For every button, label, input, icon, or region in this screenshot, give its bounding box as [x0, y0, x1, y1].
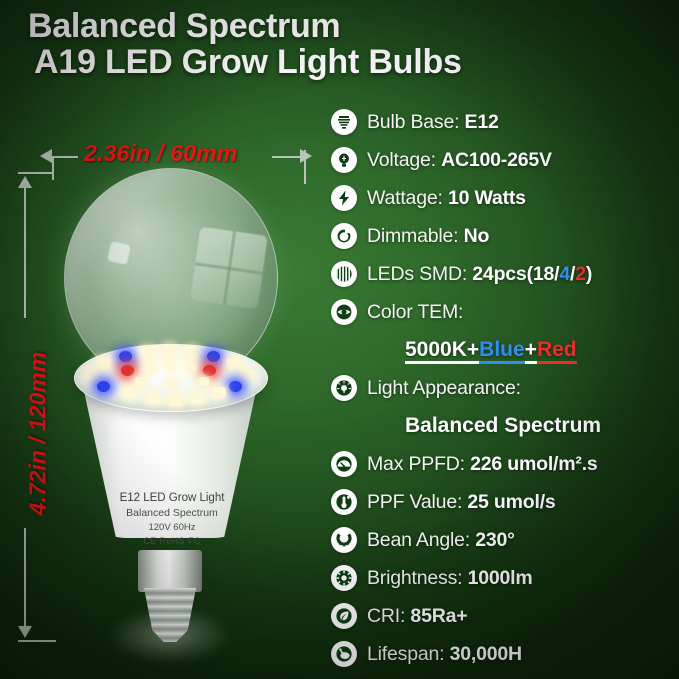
spec-row-voltage: Voltage: AC100-265V: [331, 141, 679, 179]
led-white: [163, 345, 176, 356]
spec-text-max-ppfd: Max PPFD: 226 umol/m².s: [367, 453, 598, 476]
spec-value-dimmable: No: [464, 225, 490, 247]
led-white: [199, 377, 209, 386]
dim-v-top-tick: [18, 172, 52, 174]
leds-suffix: ): [586, 263, 592, 285]
bulb-printed-label: E12 LED Grow Light Balanced Spectrum 120…: [92, 490, 252, 547]
led-white: [165, 361, 175, 370]
dim-v-down-arrow-icon: [18, 626, 32, 638]
spec-label-voltage: Voltage:: [367, 149, 436, 171]
spec-value-cri: 85Ra+: [410, 605, 467, 627]
led-blue: [119, 351, 132, 362]
spec-text-dimmable: Dimmable: No: [367, 225, 489, 248]
led-red: [121, 365, 134, 376]
spec-value-ppf-value: 25 umol/s: [467, 491, 555, 513]
led-array-plate: [74, 344, 268, 412]
light-appearance-value-row: Balanced Spectrum: [331, 407, 679, 445]
spec-label-bean-angle: Bean Angle:: [367, 529, 470, 551]
led-blue: [229, 381, 242, 392]
dimmable-circle-icon: [331, 223, 357, 249]
led-white: [167, 379, 177, 388]
dim-v-bottom-tick: [18, 640, 56, 642]
dim-h-right-tick: [304, 150, 306, 184]
color-tem-kelvin: 5000K: [405, 338, 467, 364]
spec-text-lifespan: Lifespan: 30,000H: [367, 643, 522, 666]
voltage-bulb-icon: [331, 147, 357, 173]
led-white: [135, 377, 145, 386]
spec-label-brightness: Brightness:: [367, 567, 462, 589]
spec-label-light-appearance: Light Appearance:: [367, 377, 521, 399]
led-white: [169, 395, 182, 406]
spec-label-wattage: Wattage:: [367, 187, 443, 209]
spec-value-voltage: AC100-265V: [441, 149, 552, 171]
spec-value-leds-smd: 24pcs(18/4/2): [472, 263, 592, 285]
spec-text-ppf-value: PPF Value: 25 umol/s: [367, 491, 556, 514]
spec-label-bulb-base: Bulb Base:: [367, 111, 459, 133]
led-white: [241, 370, 254, 381]
bulb-illustration: E12 LED Grow Light Balanced Spectrum 120…: [52, 168, 292, 638]
spec-text-bean-angle: Bean Angle: 230°: [367, 529, 515, 552]
led-white: [185, 347, 198, 358]
dim-v-lower-line: [24, 528, 26, 628]
color-tem-red: Red: [537, 338, 577, 364]
bulb-label-line-1: E12 LED Grow Light: [92, 490, 252, 506]
bulb-label-line-4: CE RoHS FC: [92, 535, 252, 548]
spec-text-leds-smd: LEDs SMD: 24pcs(18/4/2): [367, 263, 592, 286]
led-white: [227, 358, 240, 369]
spec-text-light-appearance: Light Appearance:: [367, 377, 521, 400]
dim-h-left-line: [52, 156, 78, 158]
spec-value-max-ppfd: 226 umol/m².s: [470, 453, 597, 475]
spec-value-lifespan: 30,000H: [450, 643, 522, 665]
leds-red-count: 2: [575, 263, 586, 285]
spec-row-color-tem: Color TEM:: [331, 293, 679, 331]
spec-text-voltage: Voltage: AC100-265V: [367, 149, 552, 172]
beam-angle-icon: [331, 527, 357, 553]
led-white: [191, 393, 204, 404]
spec-value-brightness: 1000lm: [468, 567, 533, 589]
color-tem-plus-2: +: [525, 338, 537, 364]
dim-h-left-arrow-icon: [40, 149, 52, 163]
leds-blue-count: 4: [559, 263, 570, 285]
bulb-base-icon: [331, 109, 357, 135]
spec-value-bean-angle: 230°: [475, 529, 515, 551]
spec-label-ppf-value: PPF Value:: [367, 491, 462, 513]
spec-text-cri: CRI: 85Ra+: [367, 605, 467, 628]
spec-row-ppf-value: PPF Value: 25 umol/s: [331, 483, 679, 521]
color-tem-value-row: 5000K+Blue+Red: [331, 331, 679, 369]
spec-row-bulb-base: Bulb Base: E12: [331, 103, 679, 141]
led-white: [147, 393, 160, 404]
spec-label-cri: CRI:: [367, 605, 405, 627]
spec-label-lifespan: Lifespan:: [367, 643, 444, 665]
title-line-1: Balanced Spectrum: [28, 7, 340, 45]
spec-list: Bulb Base: E12 Voltage: AC100-265V Watta…: [331, 103, 679, 673]
spec-value-bulb-base: E12: [465, 111, 499, 133]
led-chip-icon: [331, 261, 357, 287]
spec-text-color-tem: Color TEM:: [367, 301, 463, 324]
spec-row-bean-angle: Bean Angle: 230°: [331, 521, 679, 559]
bulb-base-collar: [138, 550, 202, 592]
spec-row-max-ppfd: Max PPFD: 226 umol/m².s: [331, 445, 679, 483]
spec-row-cri: CRI: 85Ra+: [331, 597, 679, 635]
spec-label-leds-smd: LEDs SMD:: [367, 263, 467, 285]
led-blue: [97, 381, 110, 392]
spec-row-lifespan: Lifespan: 30,000H: [331, 635, 679, 673]
led-white: [123, 387, 136, 398]
led-white: [145, 363, 155, 372]
dimension-height-label: 4.72in / 120mm: [25, 344, 52, 524]
dimension-width-label: 2.36in / 60mm: [84, 140, 237, 167]
thermometer-icon: [331, 489, 357, 515]
dim-v-upper-line: [24, 188, 26, 318]
bulb-label-line-3: 120V 60Hz: [92, 521, 252, 534]
led-white: [85, 370, 98, 381]
product-infographic: Balanced Spectrum A19 LED Grow Light Bul…: [0, 0, 679, 679]
page-title: Balanced Spectrum A19 LED Grow Light Bul…: [28, 8, 668, 80]
lightning-bolt-icon: [331, 185, 357, 211]
gauge-icon: [331, 451, 357, 477]
spec-label-max-ppfd: Max PPFD:: [367, 453, 465, 475]
spec-row-dimmable: Dimmable: No: [331, 217, 679, 255]
title-line-2: A19 LED Grow Light Bulbs: [34, 44, 668, 80]
window-reflection: [190, 227, 268, 310]
spec-text-bulb-base: Bulb Base: E12: [367, 111, 499, 134]
spec-value-wattage: 10 Watts: [448, 187, 526, 209]
led-white: [97, 358, 110, 369]
spec-label-dimmable: Dimmable:: [367, 225, 458, 247]
led-blue: [207, 351, 220, 362]
spec-row-leds-smd: LEDs SMD: 24pcs(18/4/2): [331, 255, 679, 293]
led-white: [141, 347, 154, 358]
led-white: [213, 387, 226, 398]
bulb-label-line-2: Balanced Spectrum: [92, 506, 252, 521]
spec-label-color-tem: Color TEM:: [367, 301, 463, 323]
leaf-icon: [331, 603, 357, 629]
led-red: [203, 365, 216, 376]
light-appearance-value: Balanced Spectrum: [405, 414, 601, 438]
eye-icon: [331, 299, 357, 325]
spec-text-wattage: Wattage: 10 Watts: [367, 187, 526, 210]
spec-row-light-appearance: Light Appearance:: [331, 369, 679, 407]
spec-row-wattage: Wattage: 10 Watts: [331, 179, 679, 217]
shining-bulb-icon: [331, 375, 357, 401]
dim-v-up-arrow-icon: [18, 176, 32, 188]
color-tem-blue: Blue: [479, 338, 525, 364]
spec-row-brightness: Brightness: 1000lm: [331, 559, 679, 597]
brightness-sun-icon: [331, 565, 357, 591]
specular-highlight: [107, 241, 131, 265]
led-white: [185, 363, 195, 372]
spec-text-brightness: Brightness: 1000lm: [367, 567, 533, 590]
dim-h-right-arrow-icon: [300, 149, 312, 163]
lifespan-icon: [331, 641, 357, 667]
color-tem-plus-1: +: [467, 338, 479, 364]
leds-prefix: 24pcs(18/: [472, 263, 559, 285]
color-tem-value: 5000K+Blue+Red: [405, 338, 577, 362]
